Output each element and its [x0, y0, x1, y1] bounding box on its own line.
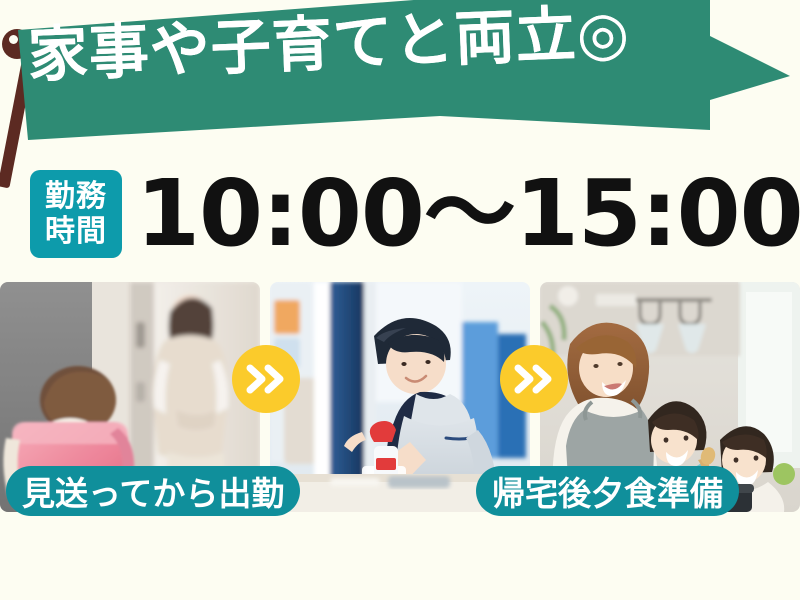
working-hours-row: 勤務 時間 10:00〜15:00 — [0, 158, 800, 270]
working-hours-badge: 勤務 時間 — [30, 170, 122, 258]
working-hours-badge-line1: 勤務 — [45, 179, 107, 214]
working-hours-badge-line2: 時間 — [45, 214, 107, 249]
double-chevron-right-icon-1 — [232, 345, 300, 413]
caption-dinner-prep: 帰宅後夕食準備 — [476, 466, 739, 516]
caption-seeing-off: 見送ってから出勤 — [6, 466, 300, 516]
promo-banner-canvas: 家事や子育てと両立◎ 勤務 時間 10:00〜15:00 — [0, 0, 800, 600]
headline-ribbon: 家事や子育てと両立◎ — [10, 0, 800, 140]
double-chevron-right-icon-2 — [500, 345, 568, 413]
chevron-glyph-2 — [514, 364, 554, 394]
chevron-glyph-1 — [246, 364, 286, 394]
working-hours-value: 10:00〜15:00 — [136, 168, 800, 260]
